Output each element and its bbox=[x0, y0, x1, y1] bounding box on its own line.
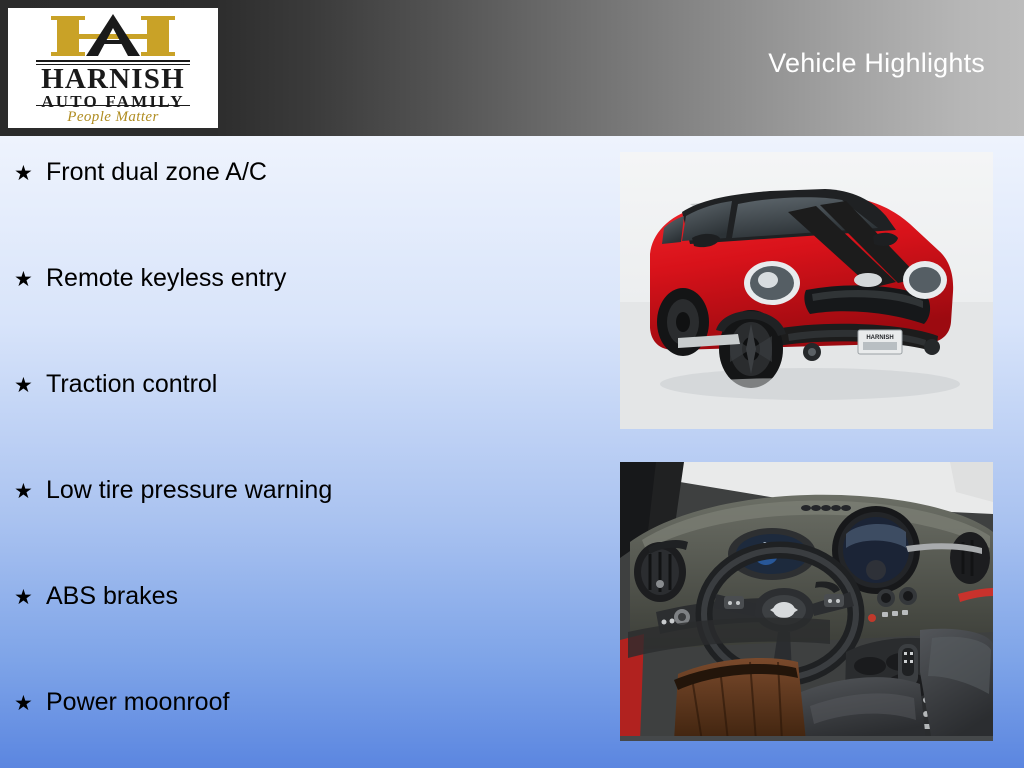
logo-subtitle: AUTO FAMILY bbox=[8, 93, 218, 110]
page-title: Vehicle Highlights bbox=[768, 50, 985, 77]
interior-photo[interactable] bbox=[620, 462, 993, 741]
highlight-label: ABS brakes bbox=[46, 584, 178, 609]
logo-divider-bottom bbox=[36, 105, 190, 106]
highlight-label: Power moonroof bbox=[46, 690, 229, 715]
list-item: ★ Remote keyless entry bbox=[14, 266, 604, 372]
harnish-ha-monogram-icon bbox=[8, 14, 218, 58]
highlight-label: Front dual zone A/C bbox=[46, 160, 267, 185]
highlight-label: Traction control bbox=[46, 372, 217, 397]
logo-name: HARNISH bbox=[8, 64, 218, 94]
list-item: ★ Traction control bbox=[14, 372, 604, 478]
highlight-label: Remote keyless entry bbox=[46, 266, 286, 291]
slide-vehicle-highlights: Vehicle Highlights HARNISH AUTO FAMILY bbox=[0, 0, 1024, 768]
logo-divider-top bbox=[36, 60, 190, 62]
highlight-label: Low tire pressure warning bbox=[46, 478, 332, 503]
highlights-list: ★ Front dual zone A/C ★ Remote keyless e… bbox=[14, 160, 604, 768]
list-item: ★ Front dual zone A/C bbox=[14, 160, 604, 266]
svg-text:HARNISH: HARNISH bbox=[866, 335, 893, 341]
star-bullet-icon: ★ bbox=[14, 163, 46, 184]
logo-tagline: People Matter bbox=[8, 109, 218, 126]
list-item: ★ ABS brakes bbox=[14, 584, 604, 690]
star-bullet-icon: ★ bbox=[14, 587, 46, 608]
dealer-logo[interactable]: HARNISH AUTO FAMILY People Matter bbox=[8, 8, 218, 128]
star-bullet-icon: ★ bbox=[14, 481, 46, 502]
list-item: ★ Low tire pressure warning bbox=[14, 478, 604, 584]
star-bullet-icon: ★ bbox=[14, 375, 46, 396]
star-bullet-icon: ★ bbox=[14, 693, 46, 714]
list-item: ★ Power moonroof bbox=[14, 690, 604, 768]
star-bullet-icon: ★ bbox=[14, 269, 46, 290]
exterior-photo[interactable]: HARNISH bbox=[620, 152, 993, 429]
